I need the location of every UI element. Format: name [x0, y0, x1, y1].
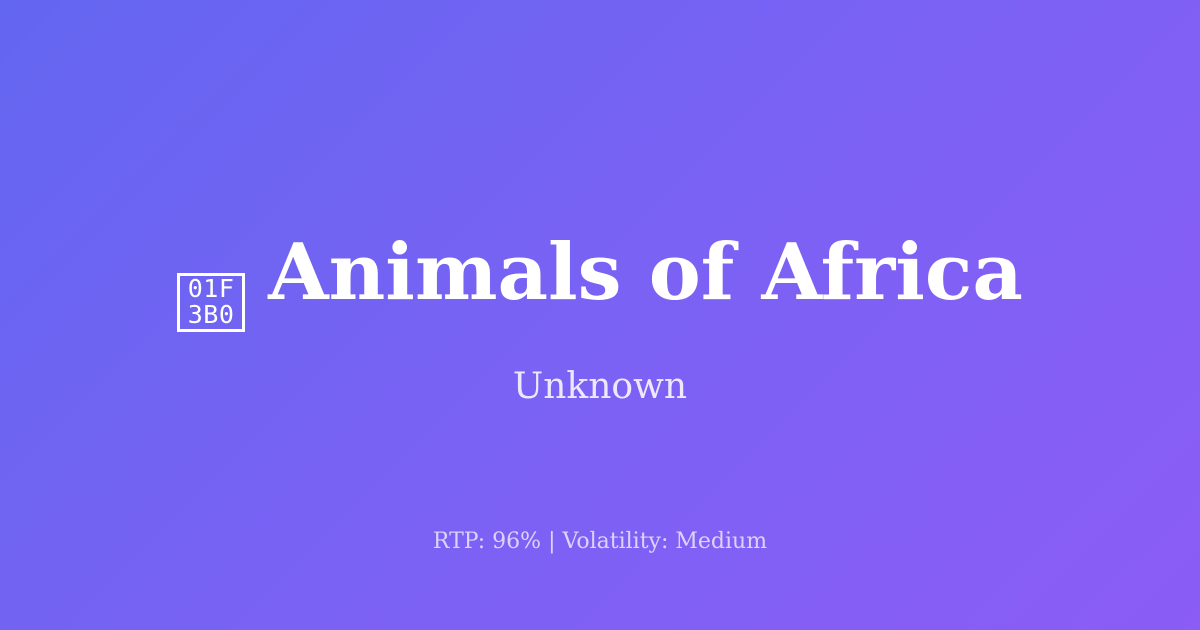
- og-preview-card: 01F 3B0 Animals of Africa Unknown RTP: 9…: [0, 0, 1200, 630]
- page-title: Animals of Africa: [268, 228, 1023, 318]
- title-row: 01F 3B0 Animals of Africa: [0, 228, 1200, 334]
- tofu-codepoint-top: 01F: [188, 276, 235, 302]
- provider-subtitle: Unknown: [0, 363, 1200, 411]
- tofu-codepoint-bottom: 3B0: [188, 302, 235, 328]
- slot-machine-icon: 01F 3B0: [177, 273, 245, 332]
- game-stats-footer: RTP: 96% | Volatility: Medium: [0, 527, 1200, 557]
